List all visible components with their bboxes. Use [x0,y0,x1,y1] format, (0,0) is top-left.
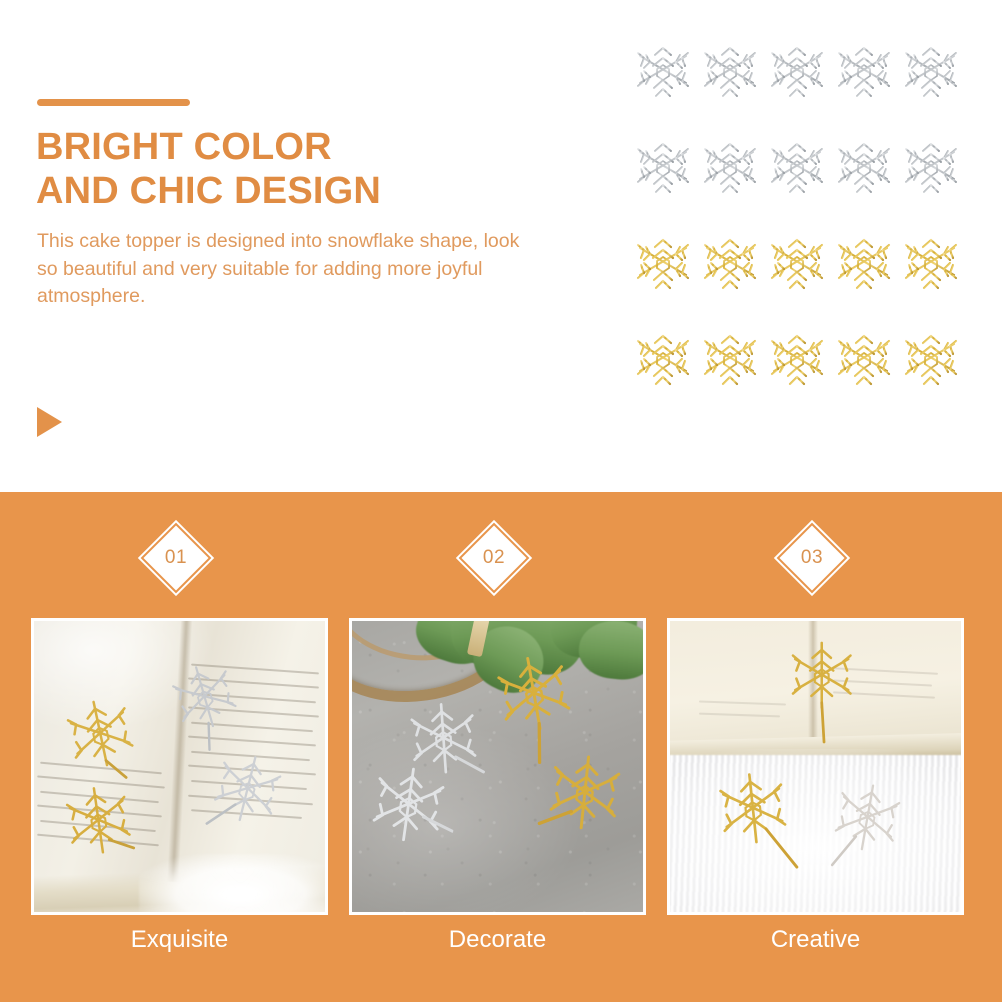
snowflake-topper-silver [699,132,761,228]
feature-section: 01 [0,492,1002,1002]
step-number: 01 [145,527,207,589]
feature-photo-frame-2[interactable] [349,618,646,915]
snowflake-gold-photo [529,744,637,876]
headline-line-1: BRIGHT COLOR [36,125,556,169]
snowflake-topper-silver [632,132,694,228]
feature-photo-1 [34,621,325,912]
snowflake-gold-photo [781,636,862,747]
snowflake-topper-gold [900,324,962,420]
product-row-silver-2 [632,132,962,228]
snowflake-topper-silver [833,132,895,228]
step-badge-01: 01 [145,527,207,589]
product-row-gold-1 [632,228,962,324]
hero-description: This cake topper is designed into snowfl… [37,228,527,311]
hero-section: BRIGHT COLOR AND CHIC DESIGN This cake t… [0,0,1002,492]
snowflake-topper-silver [699,36,761,132]
snowflake-topper-silver [632,36,694,132]
step-badge-03: 03 [781,527,843,589]
snowflake-topper-silver [900,132,962,228]
snowflake-topper-silver [833,36,895,132]
feature-photo-3 [670,621,961,912]
snowflake-gold-photo [50,776,152,898]
snowflake-gold-photo [705,762,804,887]
feature-column-3: 03 [667,492,967,1002]
feature-photo-frame-3[interactable] [667,618,964,915]
snowflake-topper-gold [766,324,828,420]
fur-patch [139,854,325,912]
feature-caption-3: Creative [667,924,964,956]
snowflake-topper-gold [900,228,962,324]
snowflake-topper-silver [900,36,962,132]
product-grid [632,36,962,396]
feature-column-2: 02 [349,492,649,1002]
page-title: BRIGHT COLOR AND CHIC DESIGN [36,125,556,213]
product-row-silver-1 [632,36,962,132]
snowflake-topper-gold [766,228,828,324]
feature-caption-2: Decorate [349,924,646,956]
accent-rule [37,99,190,106]
feature-photo-2 [352,621,643,912]
play-triangle-icon [37,407,62,437]
product-row-gold-2 [632,324,962,420]
snowflake-topper-gold [632,324,694,420]
snowflake-topper-gold [699,228,761,324]
feature-caption-1: Exquisite [31,924,328,956]
snowflake-topper-silver [766,132,828,228]
step-number: 03 [781,527,843,589]
headline-line-2: AND CHIC DESIGN [36,169,556,213]
feature-column-1: 01 [31,492,331,1002]
snowflake-topper-gold [833,324,895,420]
step-number: 02 [463,527,525,589]
feature-photo-frame-1[interactable] [31,618,328,915]
step-badge-02: 02 [463,527,525,589]
snowflake-topper-gold [632,228,694,324]
snowflake-topper-gold [699,324,761,420]
snowflake-topper-silver [766,36,828,132]
snowflake-silver-photo [352,755,462,889]
snowflake-topper-gold [833,228,895,324]
